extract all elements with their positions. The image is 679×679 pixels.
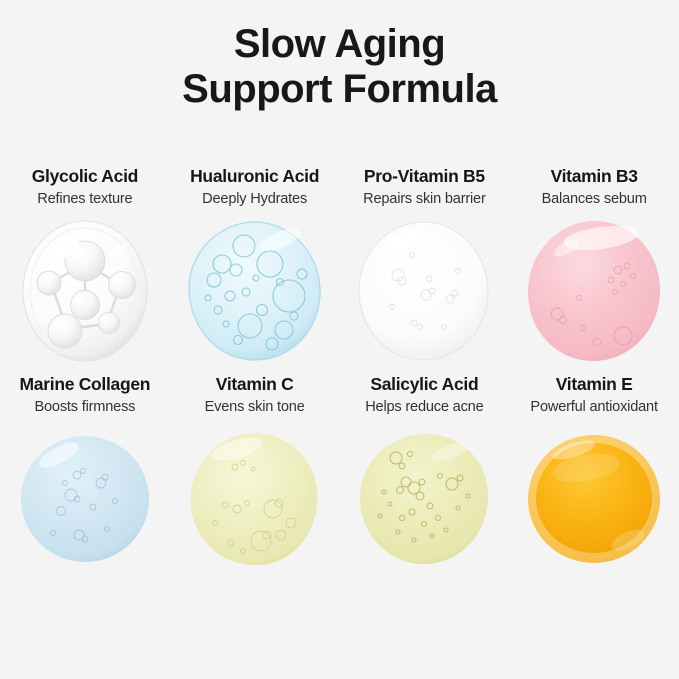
ingredient-cell-vitamin-e: Vitamin E Powerful antioxidant: [509, 374, 679, 574]
pale-yellow-oil-blob-icon: [185, 431, 325, 567]
ingredient-description: Refines texture: [37, 190, 132, 208]
ingredient-swatch-pro-vitamin-b5: [340, 216, 510, 366]
ingredient-swatch-hualuronic-acid: [170, 216, 340, 366]
clear-serum-blob-icon: [354, 219, 494, 363]
ingredient-description: Repairs skin barrier: [363, 190, 486, 208]
ingredient-swatch-marine-collagen: [0, 424, 170, 574]
ingredient-name: Vitamin B3: [551, 166, 638, 187]
ingredient-cell-pro-vitamin-b5: Pro-Vitamin B5 Repairs skin barrier: [340, 166, 510, 366]
ingredient-description: Boosts firmness: [34, 398, 135, 416]
ingredient-cell-marine-collagen: Marine Collagen Boosts firmness: [0, 374, 170, 574]
ingredient-swatch-vitamin-e: [509, 424, 679, 574]
pink-glossy-blob-icon: [523, 218, 665, 364]
ingredient-grid: Glycolic Acid Refines texture: [0, 166, 679, 582]
title-line-2: Support Formula: [0, 67, 679, 112]
molecule-clear-sphere-icon: [15, 219, 155, 363]
ingredient-swatch-vitamin-c: [170, 424, 340, 574]
ingredient-name: Vitamin E: [556, 374, 633, 395]
ingredient-name: Glycolic Acid: [32, 166, 138, 187]
infographic-page: Slow Aging Support Formula Glycolic Acid…: [0, 0, 679, 679]
ingredient-row: Glycolic Acid Refines texture: [0, 166, 679, 366]
ingredient-name: Salicylic Acid: [370, 374, 478, 395]
ingredient-cell-vitamin-b3: Vitamin B3 Balances sebum: [509, 166, 679, 366]
ingredient-cell-glycolic-acid: Glycolic Acid Refines texture: [0, 166, 170, 366]
light-blue-gel-blob-icon: [15, 433, 155, 565]
ingredient-cell-salicylic-acid: Salicylic Acid Helps reduce acne: [340, 374, 510, 574]
ingredient-description: Powerful antioxidant: [530, 398, 657, 416]
orange-oil-droplet-icon: [524, 432, 664, 566]
ingredient-cell-vitamin-c: Vitamin C Evens skin tone: [170, 374, 340, 574]
ingredient-description: Evens skin tone: [205, 398, 305, 416]
green-yellow-bubbly-blob-icon: [354, 432, 494, 566]
ingredient-description: Helps reduce acne: [365, 398, 483, 416]
ingredient-name: Vitamin C: [216, 374, 294, 395]
ingredient-swatch-vitamin-b3: [509, 216, 679, 366]
page-title: Slow Aging Support Formula: [0, 22, 679, 112]
ingredient-row: Marine Collagen Boosts firmness: [0, 374, 679, 574]
ingredient-description: Balances sebum: [542, 190, 647, 208]
blue-bubble-gel-blob-icon: [184, 218, 326, 364]
ingredient-description: Deeply Hydrates: [202, 190, 307, 208]
ingredient-swatch-salicylic-acid: [340, 424, 510, 574]
ingredient-name: Pro-Vitamin B5: [364, 166, 485, 187]
title-line-1: Slow Aging: [0, 22, 679, 67]
ingredient-name: Marine Collagen: [20, 374, 151, 395]
ingredient-cell-hualuronic-acid: Hualuronic Acid Deeply Hydrates: [170, 166, 340, 366]
ingredient-swatch-glycolic-acid: [0, 216, 170, 366]
ingredient-name: Hualuronic Acid: [190, 166, 319, 187]
